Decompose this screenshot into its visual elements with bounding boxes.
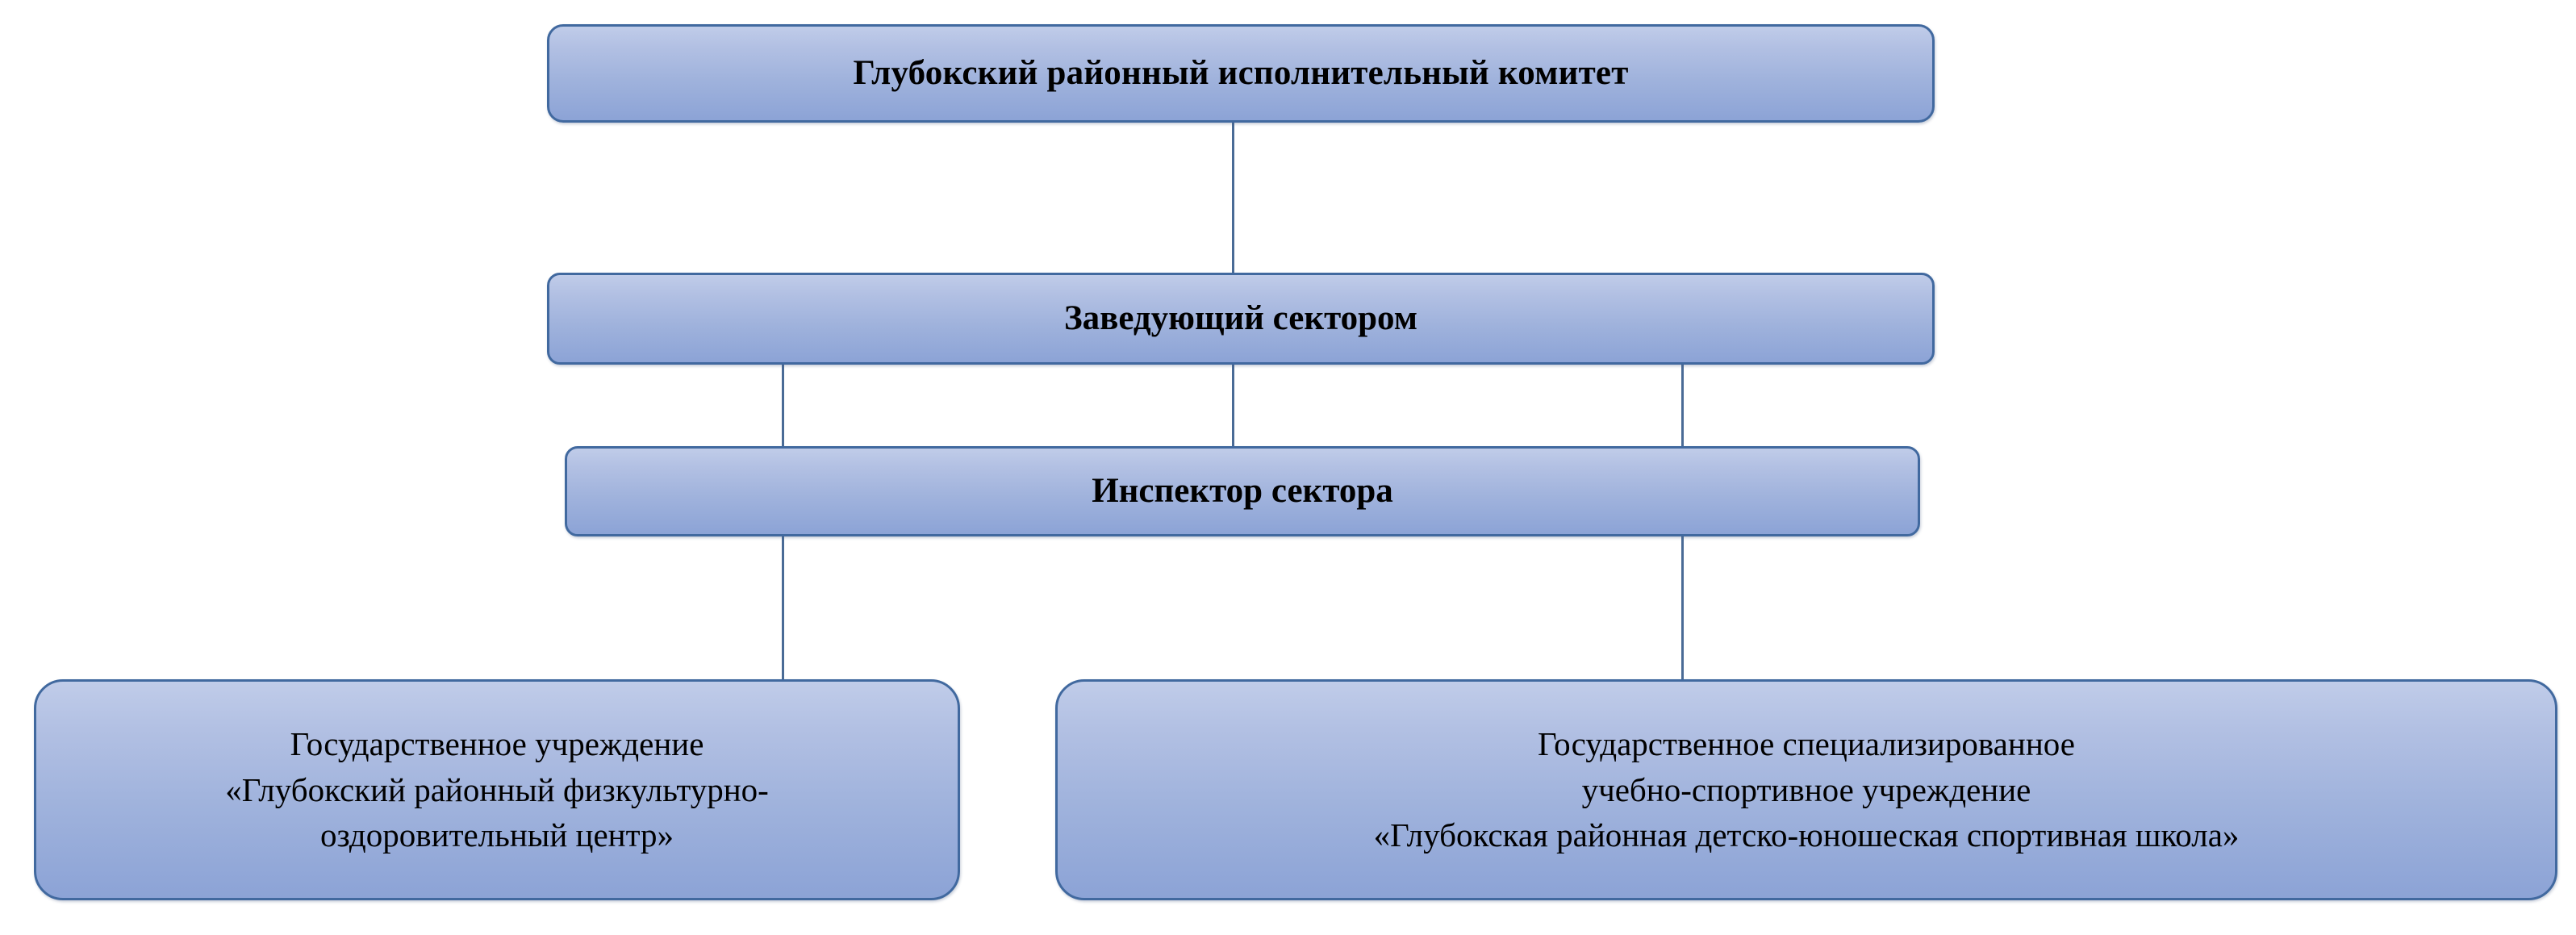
org-chart-diagram: Глубокский районный исполнительный комит… bbox=[0, 0, 2576, 935]
connector-inspektor-to-fizkulturno bbox=[782, 535, 784, 682]
node-fizkulturno[interactable]: Государственное учреждение «Глубокский р… bbox=[34, 679, 960, 900]
node-inspektor-label: Инспектор сектора bbox=[567, 472, 1918, 511]
node-sportshkola[interactable]: Государственное специализированное учебн… bbox=[1055, 679, 2557, 900]
connector-zaveduyushchiy-to-inspektor-left bbox=[782, 363, 784, 449]
node-sportshkola-label: Государственное специализированное учебн… bbox=[1058, 721, 2555, 858]
connector-zaveduyushchiy-to-inspektor-right bbox=[1681, 363, 1684, 449]
node-fizkulturno-label: Государственное учреждение «Глубокский р… bbox=[36, 721, 958, 858]
connector-zaveduyushchiy-to-inspektor-center bbox=[1232, 363, 1234, 449]
node-inspektor[interactable]: Инспектор сектора bbox=[565, 446, 1920, 536]
node-ispolkom-label: Глубокский районный исполнительный комит… bbox=[549, 54, 1932, 93]
node-zaveduyushchiy[interactable]: Заведующий сектором bbox=[547, 273, 1935, 365]
connector-inspektor-to-sportshkola bbox=[1681, 535, 1684, 682]
node-ispolkom[interactable]: Глубокский районный исполнительный комит… bbox=[547, 24, 1935, 123]
connector-ispolkom-to-zaveduyushchiy bbox=[1232, 121, 1234, 274]
node-zaveduyushchiy-label: Заведующий сектором bbox=[549, 299, 1932, 338]
